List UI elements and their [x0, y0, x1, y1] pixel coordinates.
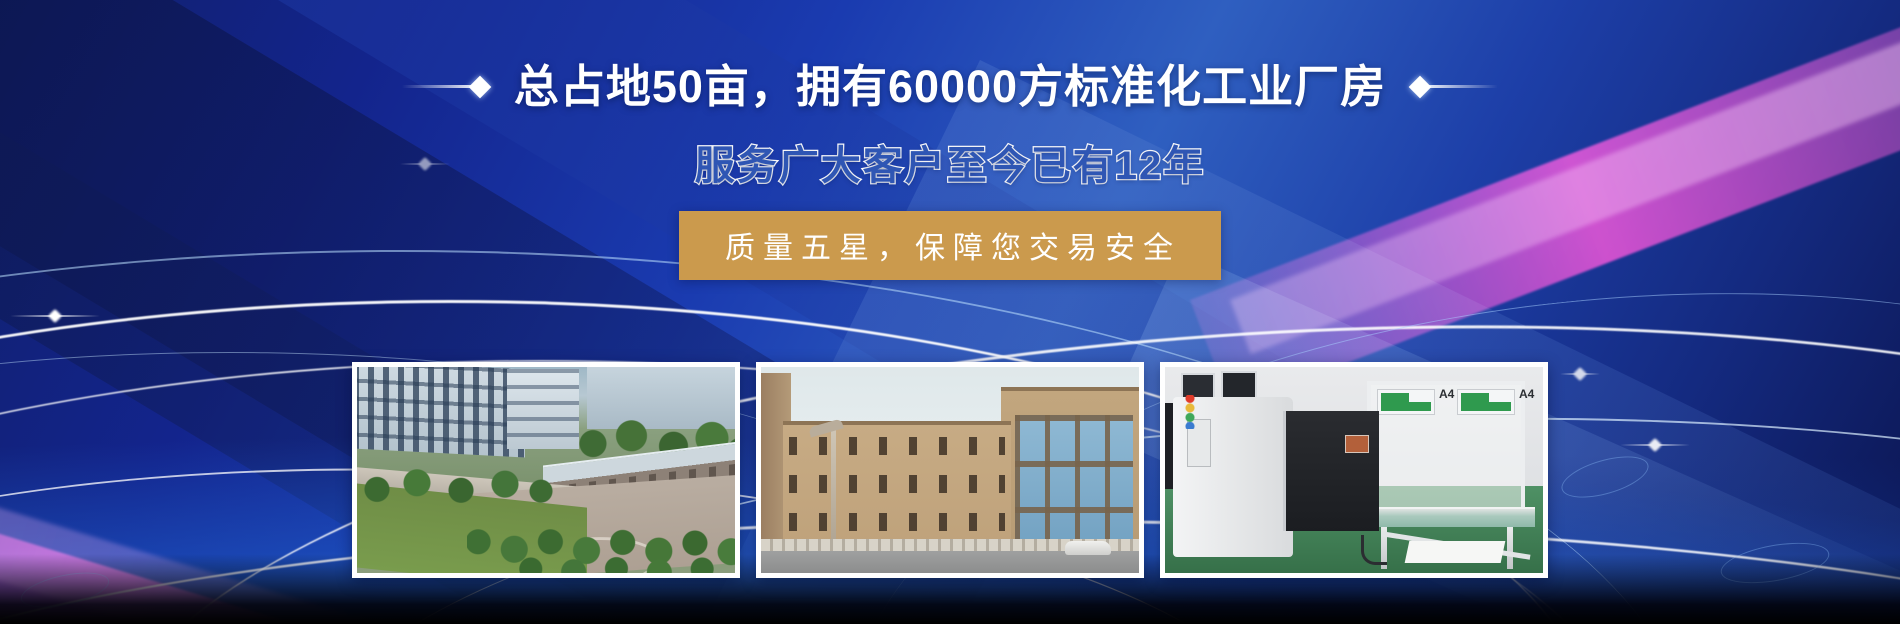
photo-office-building-exterior[interactable] [756, 362, 1144, 578]
promotional-banner: 总占地50亩，拥有60000方标准化工业厂房 服务广大客户至今已有12年 质量五… [0, 0, 1900, 624]
banner-copy: 总占地50亩，拥有60000方标准化工业厂房 服务广大客户至今已有12年 质量五… [0, 62, 1900, 280]
machine-sign-a4: A4 [1519, 387, 1534, 401]
machine-sign-carb [1457, 389, 1515, 415]
quality-guarantee-badge: 质量五星，保障您交易安全 [679, 211, 1221, 280]
headline-row: 总占地50亩，拥有60000方标准化工业厂房 [0, 62, 1900, 112]
photo-gallery: A4 A4 [0, 362, 1900, 578]
photo-production-equipment[interactable]: A4 A4 [1160, 362, 1548, 578]
machine-sign-a4: A4 [1439, 387, 1454, 401]
photo-aerial-factory-campus[interactable] [352, 362, 740, 578]
arrow-right-diamond-icon [402, 74, 488, 100]
machine-sign-carb [1377, 389, 1435, 415]
banner-subline: 服务广大客户至今已有12年 [0, 133, 1900, 191]
arrow-left-diamond-icon [1412, 74, 1498, 100]
banner-headline: 总占地50亩，拥有60000方标准化工业厂房 [514, 62, 1386, 112]
